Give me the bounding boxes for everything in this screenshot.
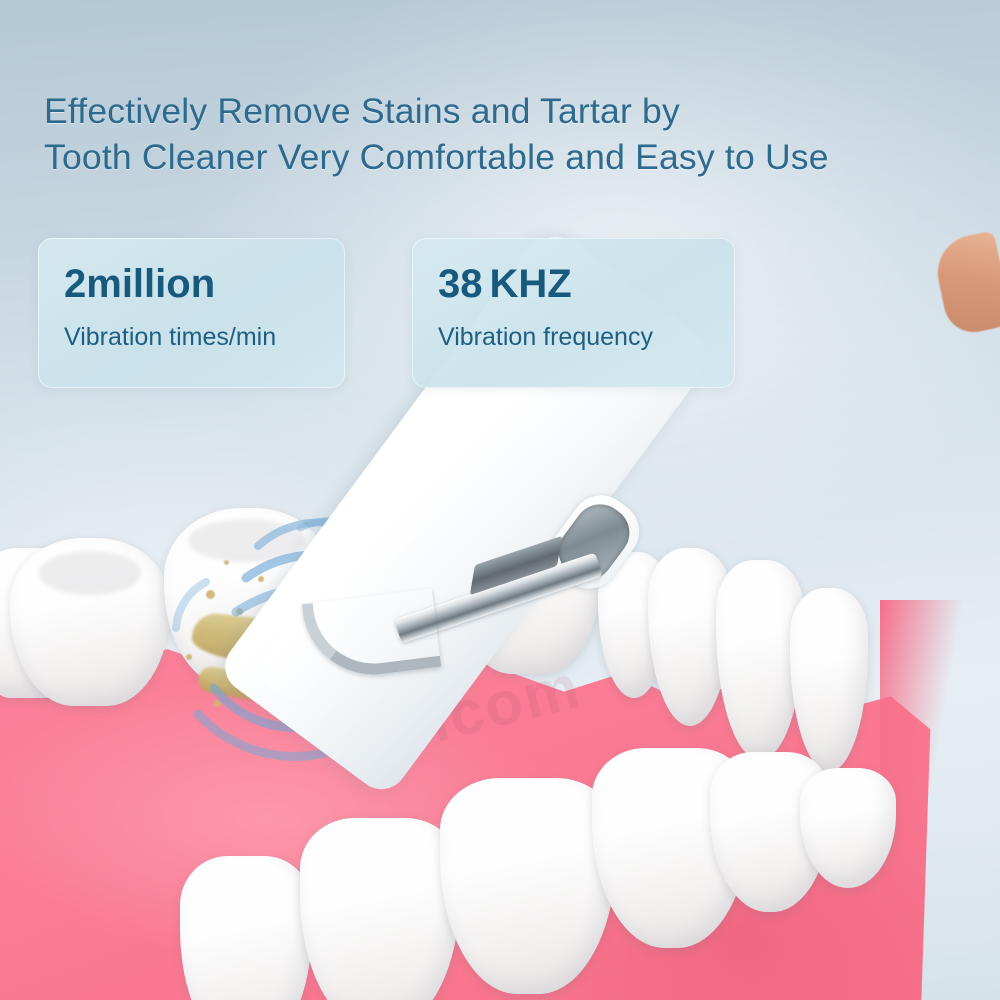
stain-speck [258, 576, 264, 582]
stain-speck [196, 632, 206, 642]
stat-value-number: 2 [64, 262, 86, 306]
stat-value-unit: million [86, 262, 215, 306]
lower-molar-tooth [300, 818, 460, 1000]
page-title: Effectively Remove Stains and Tartar by … [44, 88, 944, 180]
headline-line-2: Tooth Cleaner Very Comfortable and Easy … [44, 134, 944, 180]
product-banner: Peicom Effectively Remove Stains and Tar… [0, 0, 1000, 1000]
stain-speck [214, 700, 221, 707]
finger [931, 230, 1000, 337]
stat-label: Vibration frequency [438, 325, 709, 350]
stat-label: Vibration times/min [64, 325, 319, 350]
stain-speck [186, 654, 192, 660]
stat-value-unit: KHZ [490, 262, 572, 306]
stat-value-number: 38 [438, 262, 483, 306]
stat-badge-group: 2million Vibration times/min 38KHZ Vibra… [38, 238, 735, 388]
tooth-cusp [188, 519, 306, 562]
tooth-cusp [39, 551, 141, 595]
stain-speck [236, 608, 243, 615]
stat-badge-vibration-times: 2million Vibration times/min [38, 238, 345, 388]
headline-line-1: Effectively Remove Stains and Tartar by [44, 91, 680, 131]
stat-value: 38KHZ [438, 264, 709, 304]
molar-tooth [10, 538, 170, 706]
lower-molar-tooth [180, 856, 312, 1000]
stain-speck [206, 590, 215, 599]
stat-badge-vibration-frequency: 38KHZ Vibration frequency [412, 238, 735, 388]
stat-value: 2million [64, 264, 319, 304]
stain-speck [224, 560, 229, 565]
